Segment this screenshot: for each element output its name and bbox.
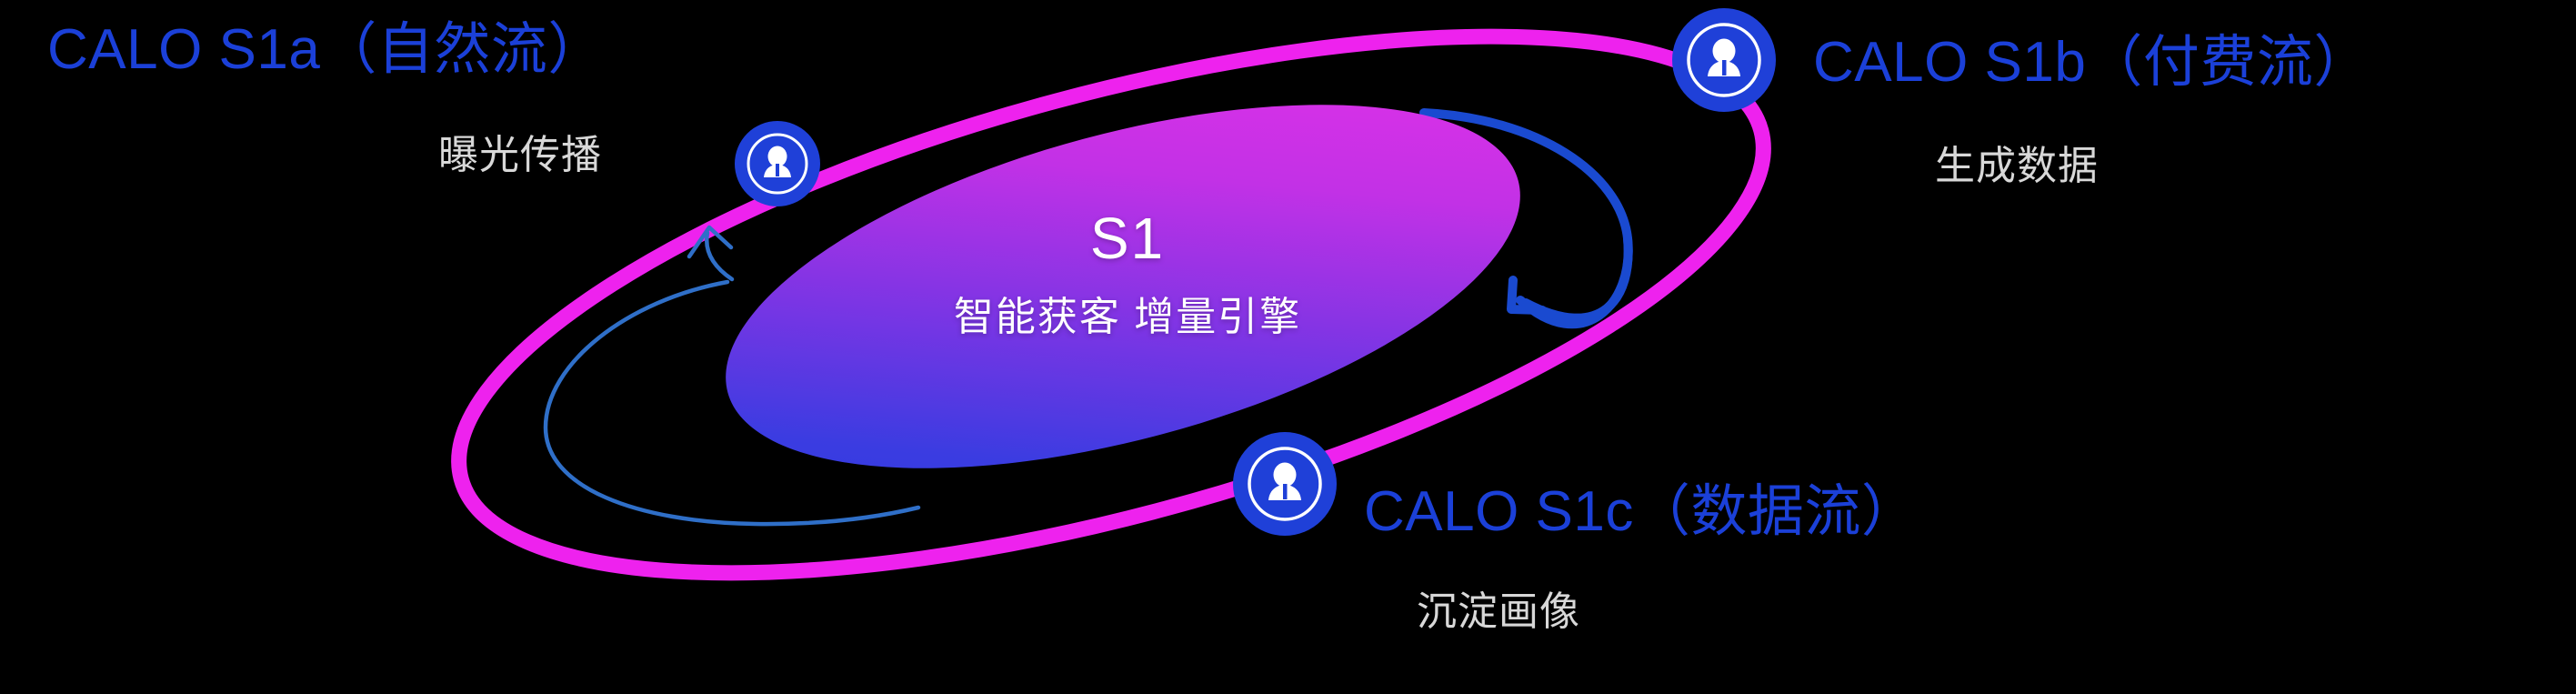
branch-s1a-title: CALO S1a（自然流）: [47, 20, 605, 79]
node-s1b[interactable]: [1672, 8, 1776, 112]
branch-s1c-subtitle: 沉淀画像: [1417, 591, 1580, 633]
orbit-diagram-svg: [0, 0, 2576, 694]
branch-s1b-subtitle: 生成数据: [1935, 146, 2099, 187]
branch-s1c-title: CALO S1c（数据流）: [1364, 482, 1918, 541]
node-s1c[interactable]: [1233, 432, 1337, 536]
diagram-canvas: S1 智能获客 增量引擎 CALO S1a（自然流） 曝光传播 CALO S1b…: [0, 0, 2576, 694]
node-s1a[interactable]: [735, 121, 820, 206]
branch-s1a-subtitle: 曝光传播: [438, 135, 602, 176]
branch-s1b-title: CALO S1b（付费流）: [1813, 33, 2371, 92]
